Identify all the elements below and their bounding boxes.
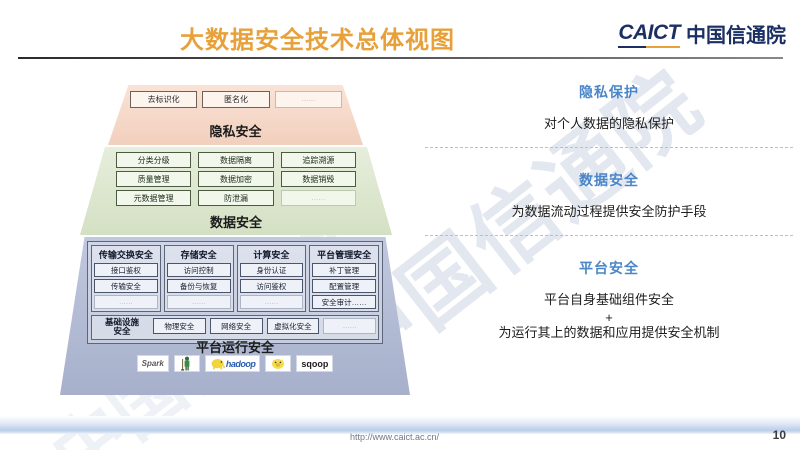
chip-network-security[interactable]: 网络安全	[210, 318, 263, 334]
hadoop-logo: hadoop	[205, 355, 261, 372]
security-pyramid-diagram: 去标识化 匿名化 …… 隐私安全 分类分级 数据隔离 追踪溯源 质量管理 数据加…	[60, 85, 410, 395]
section-data-heading: 数据安全	[425, 170, 793, 190]
chip-quality-management[interactable]: 质量管理	[116, 171, 191, 187]
section-data-security: 数据安全 为数据流动过程提供安全防护手段	[425, 170, 793, 222]
chip-anonymization[interactable]: 匿名化	[202, 91, 269, 108]
brand-name: 中国信通院	[686, 19, 786, 48]
pyramid-tier-data: 分类分级 数据隔离 追踪溯源 质量管理 数据加密 数据销毁 元数据管理 防泄漏 …	[80, 147, 392, 235]
brand-logo: CAICT 中国信通院	[618, 19, 786, 48]
chip-data-isolation[interactable]: 数据隔离	[198, 152, 273, 168]
chip-security-audit[interactable]: 安全审计……	[312, 295, 376, 309]
mahout-logo	[174, 355, 200, 372]
platform-column-transmission: 传输交换安全 接口鉴权 传输安全 ……	[91, 245, 161, 312]
pyramid-tier-privacy: 去标识化 匿名化 …… 隐私安全	[108, 85, 363, 145]
section-platform-security: 平台安全 平台自身基础组件安全 + 为运行其上的数据和应用提供安全机制	[425, 258, 793, 341]
section-privacy-body: 对个人数据的隐私保护	[425, 115, 793, 134]
section-platform-body2: 为运行其上的数据和应用提供安全机制	[425, 325, 793, 341]
hadoop-elephant-icon	[210, 356, 226, 371]
chip-privacy-more[interactable]: ……	[275, 91, 342, 108]
chip-metadata-management[interactable]: 元数据管理	[116, 190, 191, 206]
platform-panel: 传输交换安全 接口鉴权 传输安全 …… 存储安全 访问控制 备份与恢复 …… 计…	[87, 241, 383, 344]
tier-privacy-label: 隐私安全	[108, 121, 363, 140]
tier-data-label: 数据安全	[80, 212, 392, 231]
chip-infrastructure-more[interactable]: ……	[323, 318, 376, 334]
chip-data-more[interactable]: ……	[281, 190, 356, 206]
tier-platform-label: 平台运行安全	[60, 337, 410, 356]
chip-leak-prevention[interactable]: 防泄漏	[198, 190, 273, 206]
chip-transmission-more[interactable]: ……	[94, 295, 158, 309]
infrastructure-row: 基础设施 安全 物理安全 网络安全 虚拟化安全 ……	[91, 315, 379, 340]
slide-canvas: 中国信通院 中国信通院 大数据安全技术总体视图 CAICT 中国信通院 去标识化…	[0, 0, 800, 450]
technology-logo-strip: Spark	[100, 355, 370, 372]
chip-data-encryption[interactable]: 数据加密	[198, 171, 273, 187]
section-platform-plus: +	[425, 310, 793, 326]
chip-storage-more[interactable]: ……	[167, 295, 231, 309]
chip-interface-authorization[interactable]: 接口鉴权	[94, 263, 158, 277]
chip-access-authorization[interactable]: 访问鉴权	[240, 279, 304, 293]
section-privacy-heading: 隐私保护	[425, 82, 793, 102]
page-number: 10	[773, 428, 786, 442]
brand-abbreviation: CAICT	[618, 21, 680, 48]
chip-physical-security[interactable]: 物理安全	[153, 318, 206, 334]
chip-virtualization-security[interactable]: 虚拟化安全	[267, 318, 320, 334]
hadoop-logo-label: hadoop	[226, 359, 256, 369]
tier-data-items: 分类分级 数据隔离 追踪溯源 质量管理 数据加密 数据销毁 元数据管理 防泄漏 …	[116, 152, 356, 206]
pig-icon	[270, 356, 286, 371]
section-divider-1	[425, 147, 793, 148]
platform-column-management-head: 平台管理安全	[312, 248, 376, 261]
platform-column-management: 平台管理安全 补丁管理 配置管理 安全审计……	[309, 245, 379, 312]
platform-column-compute-head: 计算安全	[240, 248, 304, 261]
chip-transmission-security[interactable]: 传输安全	[94, 279, 158, 293]
slide-header: 大数据安全技术总体视图 CAICT 中国信通院	[0, 0, 800, 60]
chip-patch-management[interactable]: 补丁管理	[312, 263, 376, 277]
section-platform-body: 平台自身基础组件安全	[425, 291, 793, 310]
chip-classification-grading[interactable]: 分类分级	[116, 152, 191, 168]
sqoop-logo: sqoop	[296, 355, 333, 372]
chip-deidentification[interactable]: 去标识化	[130, 91, 197, 108]
explanation-column: 隐私保护 对个人数据的隐私保护 数据安全 为数据流动过程提供安全防护手段 平台安…	[425, 82, 793, 341]
chip-data-destruction[interactable]: 数据销毁	[281, 171, 356, 187]
spark-logo: Spark	[137, 355, 169, 372]
section-platform-heading: 平台安全	[425, 258, 793, 278]
platform-column-compute: 计算安全 身份认证 访问鉴权 ……	[237, 245, 307, 312]
sqoop-logo-label: sqoop	[301, 359, 328, 369]
chip-access-control[interactable]: 访问控制	[167, 263, 231, 277]
pig-logo	[265, 355, 291, 372]
chip-trace-provenance[interactable]: 追踪溯源	[281, 152, 356, 168]
infrastructure-label: 基础设施 安全	[94, 318, 150, 337]
section-privacy-protection: 隐私保护 对个人数据的隐私保护	[425, 82, 793, 134]
section-data-body: 为数据流动过程提供安全防护手段	[425, 203, 793, 222]
infrastructure-items: 物理安全 网络安全 虚拟化安全 ……	[153, 318, 376, 337]
spark-logo-label: Spark	[142, 359, 164, 368]
footer-url[interactable]: http://www.caict.ac.cn/	[350, 432, 439, 442]
chip-compute-more[interactable]: ……	[240, 295, 304, 309]
page-title: 大数据安全技术总体视图	[180, 20, 455, 55]
tier-privacy-items: 去标识化 匿名化 ……	[130, 91, 342, 108]
mahout-figure-icon	[179, 356, 195, 371]
pyramid-tier-platform: 传输交换安全 接口鉴权 传输安全 …… 存储安全 访问控制 备份与恢复 …… 计…	[60, 237, 410, 395]
chip-configuration-management[interactable]: 配置管理	[312, 279, 376, 293]
section-divider-2	[425, 235, 793, 236]
platform-column-storage: 存储安全 访问控制 备份与恢复 ……	[164, 245, 234, 312]
platform-column-storage-head: 存储安全	[167, 248, 231, 261]
platform-columns: 传输交换安全 接口鉴权 传输安全 …… 存储安全 访问控制 备份与恢复 …… 计…	[91, 245, 379, 312]
chip-backup-recovery[interactable]: 备份与恢复	[167, 279, 231, 293]
platform-column-transmission-head: 传输交换安全	[94, 248, 158, 261]
chip-identity-authentication[interactable]: 身份认证	[240, 263, 304, 277]
